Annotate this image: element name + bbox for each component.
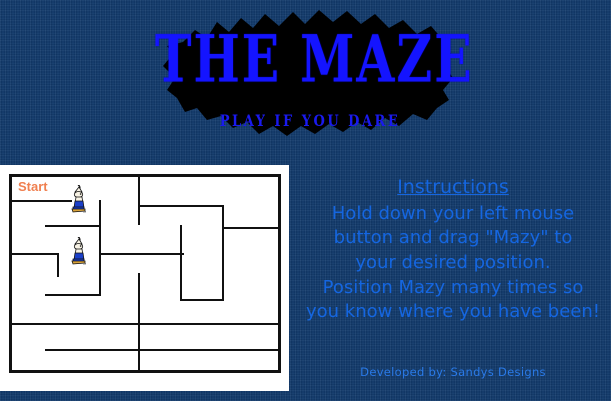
maze-wall <box>45 225 101 227</box>
maze-wall <box>12 323 278 325</box>
maze-game-page: THE MAZE PLAY IF YOU DARE Start Instruct… <box>0 0 611 401</box>
maze-wall <box>138 325 140 370</box>
maze-wall <box>99 253 184 255</box>
maze-wall <box>138 177 140 225</box>
maze-board[interactable]: Start <box>9 174 281 373</box>
banner-subtitle-text: PLAY IF YOU DARE <box>155 112 465 131</box>
maze-wall <box>12 253 59 255</box>
mazy-character[interactable] <box>69 237 89 265</box>
maze-wall <box>138 273 140 325</box>
maze-wall <box>180 299 224 301</box>
title-banner: THE MAZE PLAY IF YOU DARE <box>155 8 465 140</box>
instructions-text: Hold down your left mousebutton and drag… <box>295 202 611 325</box>
maze-wall <box>45 349 278 351</box>
instructions-block: Instructions Hold down your left mousebu… <box>295 175 611 325</box>
instructions-line: you know where you have been! <box>295 300 611 325</box>
instructions-line: Position Mazy many times so <box>295 276 611 301</box>
instructions-line: Hold down your left mouse <box>295 202 611 227</box>
maze-wall <box>222 205 224 301</box>
maze-wall <box>138 205 224 207</box>
instructions-heading-wrap: Instructions <box>295 175 611 202</box>
maze-wall <box>12 200 72 202</box>
instructions-line: your desired position. <box>295 251 611 276</box>
maze-wall <box>45 294 101 296</box>
maze-wall <box>224 227 278 229</box>
banner-title-text: THE MAZE <box>155 21 465 98</box>
start-label: Start <box>18 180 48 193</box>
mazy-character[interactable] <box>69 185 89 213</box>
instructions-line: button and drag "Mazy" to <box>295 226 611 251</box>
maze-wall <box>57 253 59 277</box>
instructions-heading: Instructions <box>397 175 509 201</box>
maze-panel: Start <box>0 165 289 391</box>
maze-wall <box>99 200 101 296</box>
credit-line: Developed by: Sandys Designs <box>295 365 611 379</box>
maze-wall <box>180 225 182 301</box>
